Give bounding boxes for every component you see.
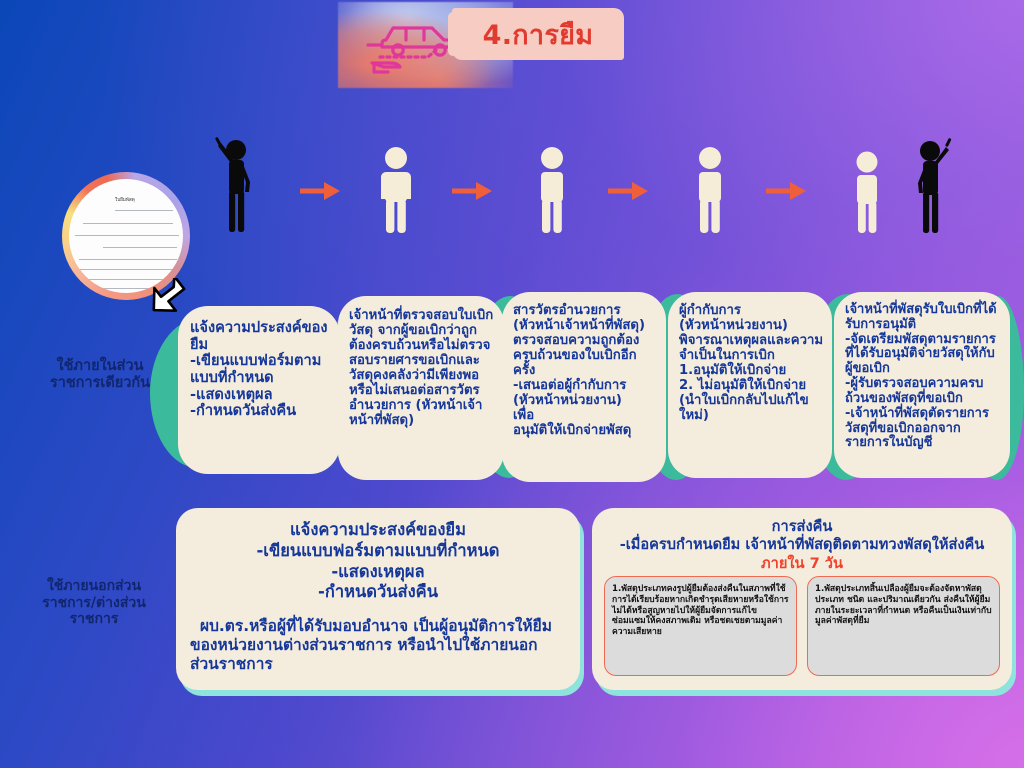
page-title: 4.การยืม [452, 8, 624, 60]
document-title: ใบยืมพัสดุ [115, 197, 135, 204]
figure-3 [534, 146, 570, 234]
tag-external-label: ใช้ภายนอกส่วนราชการ/ต่างส่วนราชการ [42, 578, 146, 627]
step-card-2: เจ้าหน้าที่ตรวจสอบใบเบิกวัสดุ จากผู้ขอเบ… [338, 296, 504, 480]
return-heading-line1: การส่งคืน [604, 518, 1000, 536]
return-note-2: 1.พัสดุประเภทสิ้นเปลืองผู้ยืมจะต้องจัดหา… [807, 576, 1000, 676]
tag-external-use: ใช้ภายนอกส่วนราชการ/ต่างส่วนราชการ [30, 578, 158, 628]
figure-pointing-left [214, 134, 260, 234]
process-people-row [200, 126, 1010, 234]
bottom-right-heading: การส่งคืน -เมื่อครบกำหนดยืม เจ้าหน้าที่พ… [604, 518, 1000, 573]
return-notes-row: 1.พัสดุประเภทคงรูปผู้ยืมต้องส่งคืนในสภาพ… [604, 576, 1000, 676]
step-2-text: เจ้าหน้าที่ตรวจสอบใบเบิกวัสดุ จากผู้ขอเบ… [349, 308, 493, 428]
bottom-left-heading: แจ้งความประสงค์ของยืม -เขียนแบบฟอร์มตามแ… [190, 520, 566, 603]
return-deadline-highlight: ภายใน 7 วัน [604, 555, 1000, 573]
figure-pointing-right [906, 134, 956, 234]
figure-5 [850, 150, 884, 234]
step-5-text: เจ้าหน้าที่พัสดุรับใบเบิกที่ได้รับการอนุ… [845, 302, 997, 450]
document-page: ใบยืมพัสดุ [69, 179, 183, 293]
arrow-1 [298, 180, 342, 202]
arrow-2 [450, 180, 494, 202]
arrow-4 [764, 180, 808, 202]
return-note-2-text: 1.พัสดุประเภทสิ้นเปลืองผู้ยืมจะต้องจัดหา… [815, 584, 992, 626]
return-note-1-text: 1.พัสดุประเภทคงรูปผู้ยืมต้องส่งคืนในสภาพ… [612, 584, 789, 637]
figure-4 [692, 146, 728, 234]
step-3-text: สารวัตรอำนวยการ (หัวหน้าเจ้าหน้าที่พัสดุ… [513, 303, 645, 438]
tag-internal-label: ใช้ภายในส่วนราชการเดียวกัน [50, 358, 150, 391]
return-heading-line2: -เมื่อครบกำหนดยืม เจ้าหน้าที่พัสดุติดตาม… [604, 536, 1000, 554]
step-card-4: ผู้กำกับการ (หัวหน้าหน่วยงาน) พิจารณาเหต… [668, 292, 832, 478]
step-card-5: เจ้าหน้าที่พัสดุรับใบเบิกที่ได้รับการอนุ… [834, 292, 1010, 478]
tag-internal-use: ใช้ภายในส่วนราชการเดียวกัน [36, 358, 164, 392]
arrow-3 [606, 180, 650, 202]
return-note-1: 1.พัสดุประเภทคงรูปผู้ยืมต้องส่งคืนในสภาพ… [604, 576, 797, 676]
bottom-right-card: การส่งคืน -เมื่อครบกำหนดยืม เจ้าหน้าที่พ… [592, 508, 1012, 690]
bottom-left-body: ผบ.ตร.หรือผู้ที่ได้รับมอบอำนาจ เป็นผู้อน… [190, 617, 566, 674]
step-card-1: แจ้งความประสงค์ของยืม -เขียนแบบฟอร์มตามแ… [178, 306, 340, 474]
infographic-canvas: 4.การยืม [0, 0, 1024, 768]
step-card-3: สารวัตรอำนวยการ (หัวหน้าเจ้าหน้าที่พัสดุ… [502, 292, 666, 482]
step-1-text: แจ้งความประสงค์ของยืม -เขียนแบบฟอร์มตามแ… [190, 319, 327, 419]
figure-2 [378, 146, 414, 234]
bottom-left-card: แจ้งความประสงค์ของยืม -เขียนแบบฟอร์มตามแ… [176, 508, 580, 690]
step-4-text: ผู้กำกับการ (หัวหน้าหน่วยงาน) พิจารณาเหต… [679, 303, 823, 423]
